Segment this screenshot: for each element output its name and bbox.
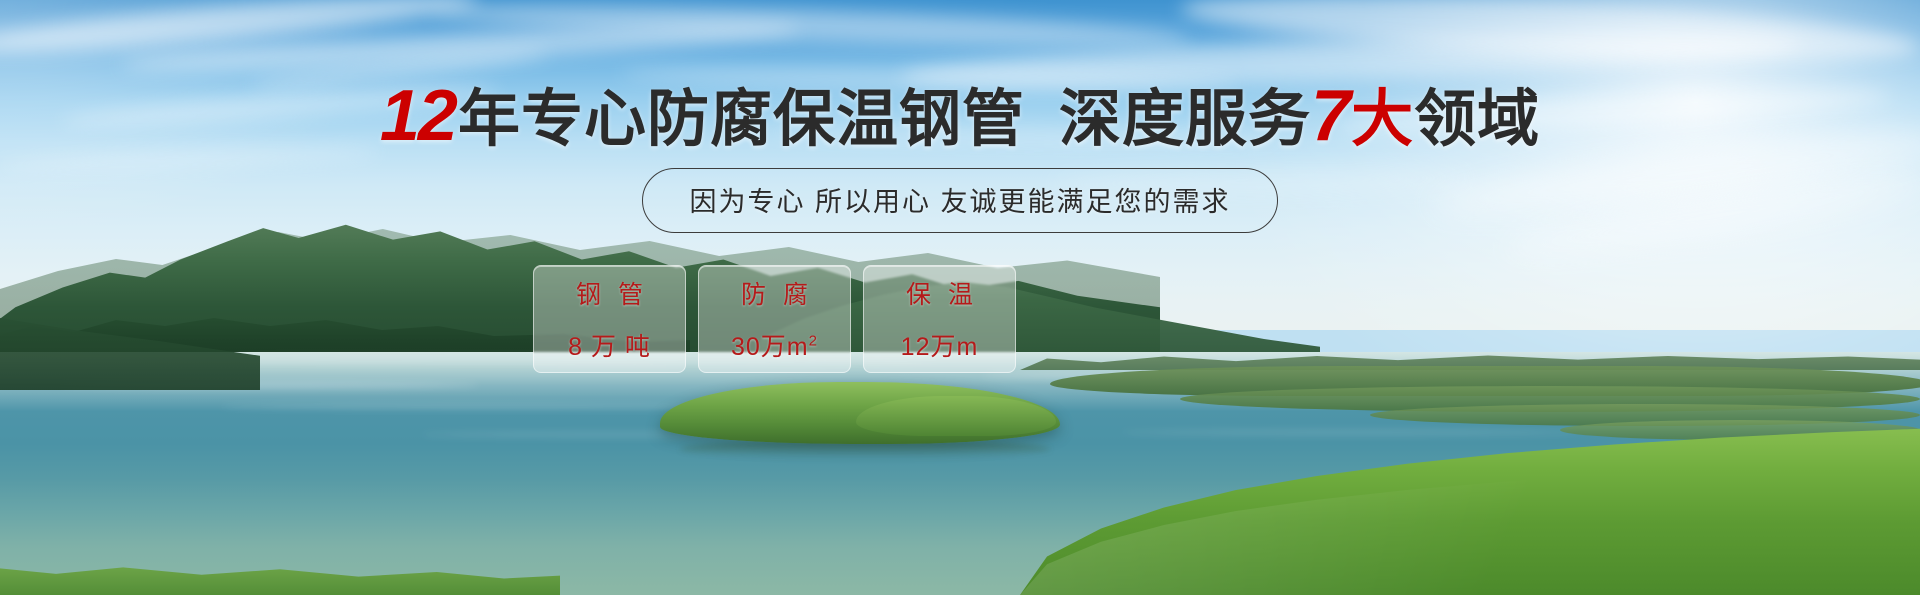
stat-value-text: 12万m xyxy=(901,333,979,361)
stat-value: 30万m2 xyxy=(731,327,818,363)
headline-service-text: 深度服务 xyxy=(1059,85,1311,154)
banner-content: 12年专心防腐保温钢管深度服务7大领域 因为专心 所以用心 友诚更能满足您的需求… xyxy=(0,0,1920,595)
stat-value-text: 30万m xyxy=(731,333,809,361)
headline-main-text: 年专心防腐保温钢管 xyxy=(458,85,1025,154)
headline-fields-number: 7 xyxy=(1311,76,1349,156)
stat-label: 防 腐 xyxy=(736,275,813,311)
stat-label: 钢 管 xyxy=(571,275,648,311)
stat-value: 12万m xyxy=(901,327,979,363)
stat-card-insulation[interactable]: 保 温 12万m xyxy=(863,265,1016,373)
hero-banner: 12年专心防腐保温钢管深度服务7大领域 因为专心 所以用心 友诚更能满足您的需求… xyxy=(0,0,1920,595)
subtitle-wrapper: 因为专心 所以用心 友诚更能满足您的需求 xyxy=(0,168,1920,233)
headline-years-number: 12 xyxy=(380,76,456,156)
subtitle-pill: 因为专心 所以用心 友诚更能满足您的需求 xyxy=(642,168,1277,233)
stat-card-anticorrosion[interactable]: 防 腐 30万m2 xyxy=(698,265,851,373)
stat-label: 保 温 xyxy=(901,275,978,311)
stat-card-steel-pipe[interactable]: 钢 管 8 万 吨 xyxy=(533,265,686,373)
stat-value-text: 8 万 吨 xyxy=(568,333,651,361)
stat-value-sup: 2 xyxy=(809,333,818,350)
stats-group: 钢 管 8 万 吨 防 腐 30万m2 保 温 12万m xyxy=(533,265,1016,373)
headline: 12年专心防腐保温钢管深度服务7大领域 xyxy=(0,80,1920,152)
headline-fields-tail: 领域 xyxy=(1414,85,1540,154)
headline-fields-unit: 大 xyxy=(1351,85,1414,154)
stat-value: 8 万 吨 xyxy=(568,327,651,363)
